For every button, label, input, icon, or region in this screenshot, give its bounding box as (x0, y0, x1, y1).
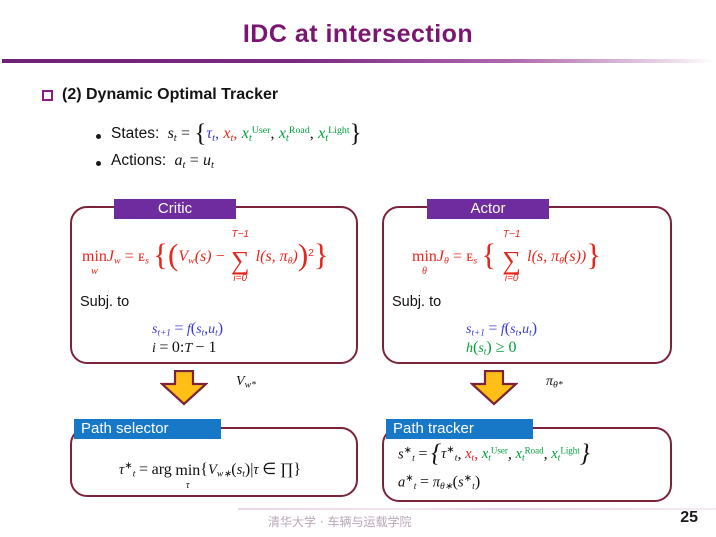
critic-constraint-dynamics: st+1 = f(st,ut) (152, 320, 223, 338)
critic-banner: Critic (114, 199, 236, 219)
path-selector-formula: τ∗t = arg minτ{Vw∗(st)|τ ∈ ∏} (119, 459, 301, 480)
list-item-actions: Actions: at = ut (96, 152, 362, 171)
critic-objective: minwJw = ᴇs {(Vw(s) − T−1∑i=0 l(s, πθ))2… (82, 242, 329, 272)
actor-constraint-dynamics: st+1 = f(st,ut) (466, 320, 537, 338)
actor-subject-to-label: Subj. to (392, 294, 441, 310)
states-line: States: st = {τt, xt, xtUser, xtRoad, xt… (111, 125, 362, 144)
state-term-x-user: xtUser (242, 125, 271, 142)
actions-line: Actions: at = ut (111, 152, 214, 171)
actor-banner: Actor (427, 199, 549, 219)
slide-canvas: IDC at intersection (2) Dynamic Optimal … (0, 0, 716, 537)
page-number: 25 (680, 509, 698, 527)
square-bullet-icon (42, 90, 53, 101)
list-item-states: States: st = {τt, xt, xtUser, xtRoad, xt… (96, 125, 362, 144)
round-bullet-icon (96, 161, 101, 166)
actor-output-arrow (470, 370, 518, 411)
state-term-x-road: xtRoad (279, 125, 310, 142)
states-label: States: (111, 125, 159, 142)
critic-subject-to-label: Subj. to (80, 294, 129, 310)
round-bullet-icon (96, 134, 101, 139)
critic-output-label: Vw* (236, 374, 256, 391)
path-selector-banner: Path selector (74, 419, 221, 439)
title-divider (2, 59, 714, 63)
state-term-x: xt (223, 125, 233, 142)
section-heading: (2) Dynamic Optimal Tracker (42, 86, 278, 104)
critic-constraint-horizon: i = 0:T − 1 (152, 339, 216, 357)
actor-constraint-inequality: h(st) ≥ 0 (466, 339, 516, 357)
bullet-list: States: st = {τt, xt, xtUser, xtRoad, xt… (96, 125, 362, 179)
critic-output-arrow (160, 370, 208, 411)
footer-divider (238, 508, 716, 510)
actor-box (382, 206, 672, 364)
path-tracker-banner: Path tracker (386, 419, 533, 439)
actor-output-label: πθ* (546, 374, 563, 391)
footer-affiliation: 清华大学 · 车辆与运载学院 (268, 513, 411, 530)
actions-label: Actions: (111, 152, 166, 169)
page-title: IDC at intersection (0, 20, 716, 49)
state-term-x-light: xtLight (318, 125, 350, 142)
path-tracker-action-formula: a∗t = πθ∗(s∗t) (398, 473, 480, 492)
path-tracker-state-formula: s∗t = {τ∗t, xt, xtUser, xtRoad, xtLight} (398, 445, 590, 464)
actor-objective: minθJθ = ᴇs { T−1∑i=0 l(s, πθ(s))} (412, 242, 601, 272)
state-term-tau: τt (206, 125, 215, 142)
section-heading-label: (2) Dynamic Optimal Tracker (62, 86, 278, 104)
